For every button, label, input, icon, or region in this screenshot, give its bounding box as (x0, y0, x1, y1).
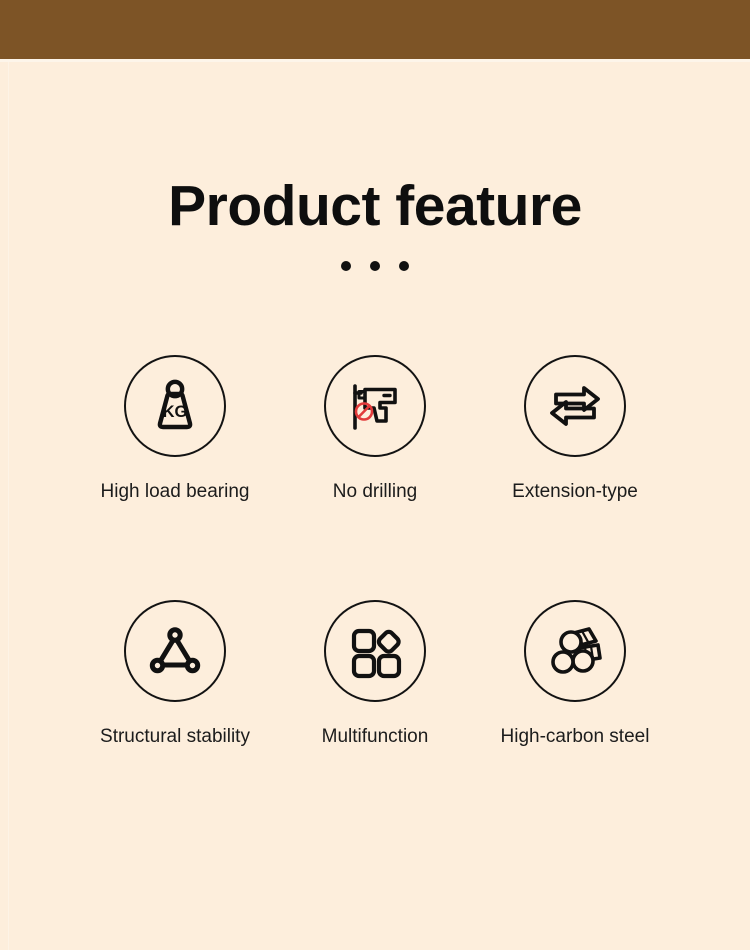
divider-dot (399, 261, 409, 271)
weight-kg-icon: KG (124, 355, 226, 457)
no-drilling-icon (324, 355, 426, 457)
feature-item-extension-type: Extension-type (475, 355, 675, 503)
top-band-seam (0, 59, 750, 62)
feature-item-high-carbon-steel: High-carbon steel (475, 600, 675, 748)
svg-text:KG: KG (163, 403, 188, 421)
double-arrow-icon (524, 355, 626, 457)
triangle-nodes-icon (124, 600, 226, 702)
feature-item-structural-stability: Structural stability (75, 600, 275, 748)
header-block: Product feature (0, 175, 750, 271)
feature-label: Structural stability (100, 726, 250, 748)
feature-label: Multifunction (322, 726, 429, 748)
feature-label: High load bearing (101, 481, 250, 503)
multifunction-shapes-icon (324, 600, 426, 702)
feature-item-high-load-bearing: KG High load bearing (75, 355, 275, 503)
page-title: Product feature (0, 175, 750, 239)
feature-row: KG High load bearing (0, 355, 750, 503)
feature-item-multifunction: Multifunction (275, 600, 475, 748)
feature-item-no-drilling: No drilling (275, 355, 475, 503)
product-feature-page: Product feature KG High load bearing (0, 0, 750, 950)
steel-bars-icon (524, 600, 626, 702)
feature-row: Structural stability Multifunction (0, 600, 750, 748)
feature-grid: KG High load bearing (0, 355, 750, 748)
feature-label: High-carbon steel (501, 726, 650, 748)
feature-label: No drilling (333, 481, 417, 503)
divider-dot (370, 261, 380, 271)
feature-label: Extension-type (512, 481, 638, 503)
top-brown-band (0, 0, 750, 59)
title-divider-dots (0, 261, 750, 271)
divider-dot (341, 261, 351, 271)
